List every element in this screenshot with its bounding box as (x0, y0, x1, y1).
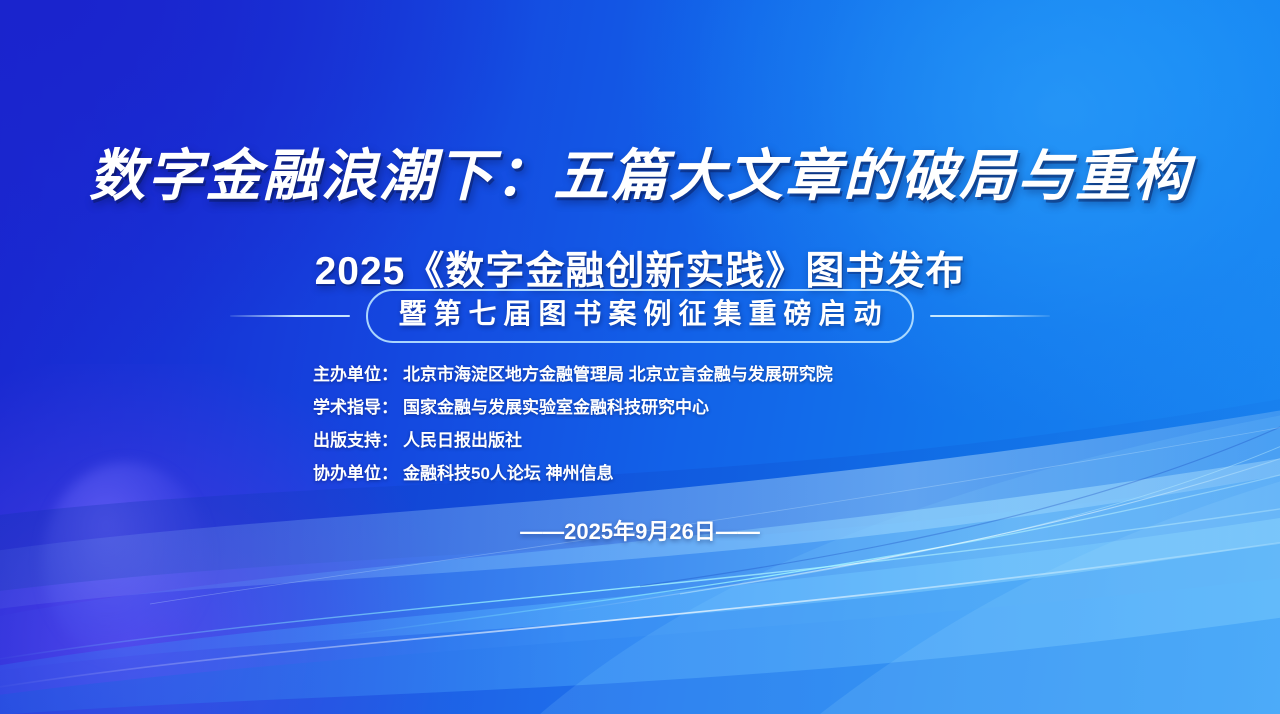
pill-rule-left (230, 315, 350, 317)
sub-title: 2025《数字金融创新实践》图书发布 (0, 240, 1280, 296)
organizer-value: 国家金融与发展实验室金融科技研究中心 (403, 398, 709, 417)
organizer-label: 出版支持： (313, 431, 398, 450)
organizer-label: 协办单位： (313, 464, 398, 483)
pill-banner-row: 暨第七届图书案例征集重磅启动 (0, 289, 1280, 343)
organizer-value: 金融科技50人论坛 神州信息 (403, 464, 614, 483)
list-item: 主办单位：北京市海淀区地方金融管理局 北京立言金融与发展研究院 (313, 359, 833, 390)
page-title: 数字金融浪潮下：五篇大文章的破局与重构 (0, 146, 1280, 209)
banner-content: 数字金融浪潮下：五篇大文章的破局与重构 2025《数字金融创新实践》图书发布 暨… (0, 0, 1280, 714)
list-item: 出版支持：人民日报出版社 (313, 425, 833, 456)
list-item: 协办单位：金融科技50人论坛 神州信息 (313, 458, 833, 489)
event-banner: 数字金融浪潮下：五篇大文章的破局与重构 2025《数字金融创新实践》图书发布 暨… (0, 0, 1280, 714)
organizer-label: 学术指导： (313, 398, 398, 417)
pill-rule-right (930, 315, 1050, 317)
event-date: ——2025年9月26日—— (0, 514, 1280, 546)
organizer-label: 主办单位： (313, 365, 398, 384)
launch-pill-label: 暨第七届图书案例征集重磅启动 (398, 296, 888, 332)
organizer-value: 人民日报出版社 (403, 431, 522, 450)
organizer-list: 主办单位：北京市海淀区地方金融管理局 北京立言金融与发展研究院 学术指导：国家金… (313, 359, 833, 489)
organizer-value: 北京市海淀区地方金融管理局 北京立言金融与发展研究院 (403, 365, 833, 384)
launch-pill: 暨第七届图书案例征集重磅启动 (366, 289, 913, 342)
list-item: 学术指导：国家金融与发展实验室金融科技研究中心 (313, 392, 833, 423)
